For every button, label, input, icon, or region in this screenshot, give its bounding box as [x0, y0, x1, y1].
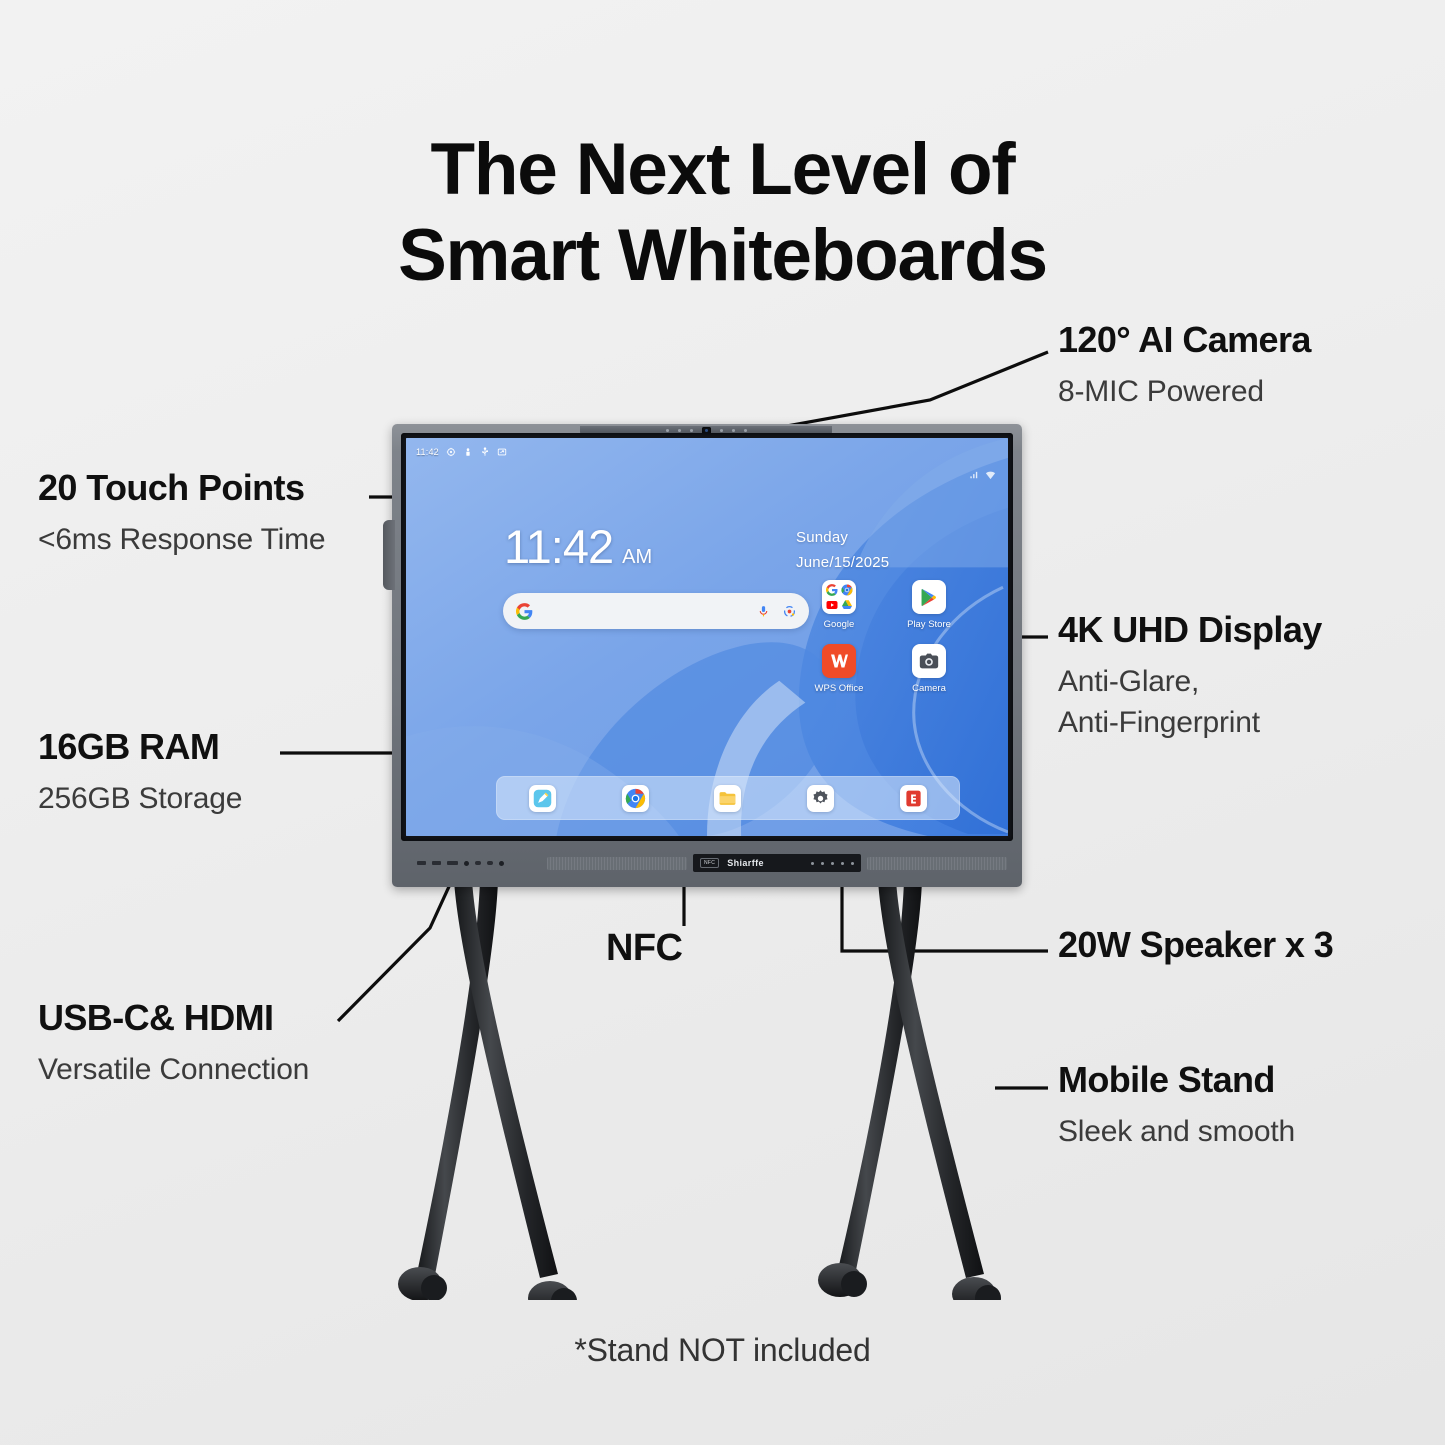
- callout-usb-hdmi: USB-C& HDMI Versatile Connection: [38, 998, 309, 1089]
- settings-gear-icon[interactable]: [807, 785, 834, 812]
- mobile-stand-graphic: [392, 880, 1032, 1300]
- date-weekday: Sunday: [796, 526, 889, 551]
- audio-jack-icon: [464, 861, 469, 866]
- stand-leg-right-a: [836, 880, 922, 1280]
- callout-sub: <6ms Response Time: [38, 520, 325, 559]
- control-keys[interactable]: [811, 862, 854, 865]
- clock-widget[interactable]: 11:42 AM: [504, 523, 652, 570]
- microphone-icon[interactable]: [757, 605, 770, 618]
- app-label: Play Store: [907, 619, 951, 630]
- clock-ampm: AM: [622, 547, 652, 567]
- headline-line-2: Smart Whiteboards: [0, 213, 1445, 299]
- infographic-page: The Next Level of Smart Whiteboards 20 T…: [0, 0, 1445, 1445]
- screen-frame: 11:42 11:42 AM: [401, 433, 1013, 841]
- callout-ram: 16GB RAM 256GB Storage: [38, 727, 242, 818]
- callout-title: 120° AI Camera: [1058, 320, 1311, 360]
- callout-sub: 8-MIC Powered: [1058, 372, 1311, 411]
- usb-device-icon: [463, 447, 473, 457]
- wps-office-icon: [822, 644, 856, 678]
- callout-sub: Anti-Glare,: [1058, 662, 1322, 701]
- callout-title: Mobile Stand: [1058, 1060, 1295, 1100]
- usb-c-port-icon: [487, 861, 493, 865]
- status-time: 11:42: [416, 447, 439, 457]
- files-icon[interactable]: [714, 785, 741, 812]
- callout-title: 20 Touch Points: [38, 468, 325, 508]
- play-store-icon: [912, 580, 946, 614]
- page-title: The Next Level of Smart Whiteboards: [0, 127, 1445, 299]
- callout-touch-points: 20 Touch Points <6ms Response Time: [38, 468, 325, 559]
- callout-sub: Sleek and smooth: [1058, 1112, 1295, 1151]
- callout-title: 16GB RAM: [38, 727, 242, 767]
- interactive-whiteboard: 11:42 11:42 AM: [392, 424, 1022, 887]
- camera-icon: [912, 644, 946, 678]
- app-play-store[interactable]: Play Store: [884, 580, 974, 630]
- callout-title: USB-C& HDMI: [38, 998, 309, 1038]
- dock-bar: [496, 776, 960, 820]
- eshare-icon[interactable]: [900, 785, 927, 812]
- date-value: June/15/2025: [796, 551, 889, 576]
- google-search-bar[interactable]: [503, 593, 809, 629]
- callout-title: 20W Speaker x 3: [1058, 925, 1333, 965]
- callout-sub: Versatile Connection: [38, 1050, 309, 1089]
- audio-jack-icon: [499, 861, 504, 866]
- compass-icon: [446, 447, 456, 457]
- brand-plate: NFC Shiarffe: [693, 854, 861, 872]
- port-cluster[interactable]: [417, 855, 541, 871]
- stand-leg-left-a: [416, 880, 498, 1280]
- youtube-mini-icon: [825, 598, 838, 611]
- nfc-badge: NFC: [700, 858, 719, 868]
- clock-time: 11:42: [504, 523, 613, 570]
- app-google-folder[interactable]: Google: [794, 580, 884, 630]
- screencast-icon: [497, 447, 507, 457]
- chrome-mini-icon: [840, 583, 853, 596]
- usb-port-icon: [432, 861, 441, 865]
- google-folder-icon: [822, 580, 856, 614]
- usb-c-port-icon: [475, 861, 481, 865]
- google-g-icon: [516, 603, 533, 620]
- callout-ai-camera: 120° AI Camera 8-MIC Powered: [1058, 320, 1311, 411]
- speaker-grille-left: [547, 857, 687, 870]
- bottom-bezel: NFC Shiarffe: [401, 845, 1013, 881]
- android-home-screen[interactable]: 11:42 11:42 AM: [406, 438, 1008, 836]
- brand-name: Shiarffe: [727, 858, 764, 868]
- google-search-mini-icon: [825, 583, 838, 596]
- stand-leg-right-b: [878, 880, 984, 1278]
- status-bar: 11:42: [416, 445, 507, 459]
- callout-speaker: 20W Speaker x 3: [1058, 925, 1333, 965]
- stand-caster-3: [818, 1263, 867, 1297]
- status-right: [969, 470, 996, 481]
- app-grid: Google Play Store: [794, 580, 974, 694]
- app-label: WPS Office: [815, 683, 864, 694]
- stand-caster-4: [952, 1277, 1001, 1300]
- usb-icon: [480, 447, 490, 457]
- footnote: *Stand NOT included: [0, 1332, 1445, 1369]
- date-widget: Sunday June/15/2025: [796, 526, 889, 576]
- app-camera[interactable]: Camera: [884, 644, 974, 694]
- callout-display: 4K UHD Display Anti-Glare, Anti-Fingerpr…: [1058, 610, 1322, 742]
- stand-caster-2: [528, 1281, 577, 1300]
- pen-holder: [383, 520, 395, 590]
- callout-mobile-stand: Mobile Stand Sleek and smooth: [1058, 1060, 1295, 1151]
- network-icon: [969, 470, 980, 481]
- usb-port-icon: [417, 861, 426, 865]
- app-label: Camera: [912, 683, 946, 694]
- callout-sub: 256GB Storage: [38, 779, 242, 818]
- chrome-icon[interactable]: [622, 785, 649, 812]
- headline-line-1: The Next Level of: [430, 129, 1014, 210]
- stand-caster-1: [398, 1267, 447, 1300]
- callout-title: 4K UHD Display: [1058, 610, 1322, 650]
- speaker-grille-right: [867, 857, 1007, 870]
- whiteboard-icon[interactable]: [529, 785, 556, 812]
- callout-sub-2: Anti-Fingerprint: [1058, 703, 1322, 742]
- app-label: Google: [824, 619, 855, 630]
- wifi-icon: [985, 470, 996, 481]
- drive-mini-icon: [840, 598, 853, 611]
- hdmi-port-icon: [447, 861, 458, 865]
- app-wps-office[interactable]: WPS Office: [794, 644, 884, 694]
